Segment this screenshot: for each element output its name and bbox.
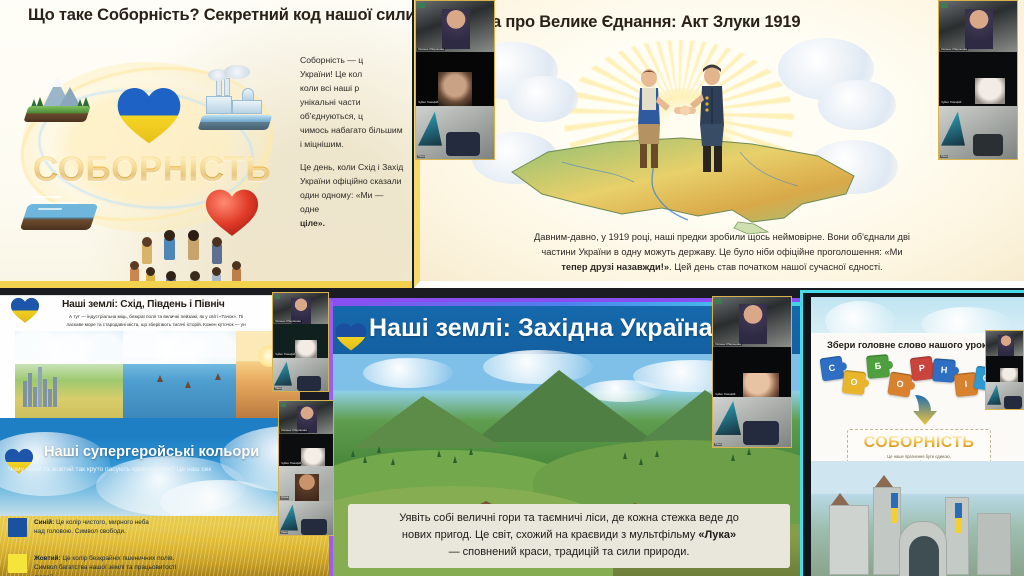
slide2-caption: Давним-давно, у 1919 році, наші предки з… bbox=[430, 230, 1014, 275]
participant-tile[interactable]: Оксана Обаринова bbox=[416, 1, 494, 52]
participant-tile[interactable] bbox=[986, 382, 1023, 409]
participant-name: Оксана Обаринова bbox=[714, 343, 742, 346]
puzzle-piece[interactable]: Б bbox=[866, 354, 890, 379]
slide-window-east-south-north[interactable]: Наші землі: Схід, Південь і Північ А тут… bbox=[0, 295, 300, 422]
participant-name: Чуйко Тимофій bbox=[274, 353, 296, 356]
slide4-subtitle: Чому синій та жовтий так круто пасують о… bbox=[8, 466, 211, 473]
puzzle-piece[interactable]: О bbox=[887, 371, 912, 397]
slide1-artwork: СОБОРНІСТЬ bbox=[8, 38, 288, 278]
participant-video-strip[interactable]: Оксана Обаринова Чуйко Тимофій Таня bbox=[712, 296, 792, 448]
slide1-keyword: СОБОРНІСТЬ bbox=[22, 150, 282, 190]
yellow-swatch bbox=[8, 554, 27, 573]
blue-yellow-heart-icon bbox=[335, 322, 367, 352]
blue-yellow-heart-icon bbox=[116, 86, 182, 146]
slide1-title: Що таке Соборність? Секретний код нашої … bbox=[28, 6, 412, 25]
slide-window-what-is-sobornist[interactable]: Що таке Соборність? Секретний код нашої … bbox=[0, 0, 412, 288]
slide5-title: Наші землі: Західна Україна bbox=[369, 314, 713, 343]
people-circle-icon bbox=[116, 234, 268, 288]
screen-share-grid: Що таке Соборність? Секретний код нашої … bbox=[0, 0, 1024, 576]
participant-name: Чуйко Тимофій bbox=[940, 101, 962, 104]
participant-name: Таня bbox=[280, 531, 288, 534]
participant-name: Таня bbox=[714, 443, 722, 446]
handshake-icon bbox=[670, 102, 700, 118]
participant-tile[interactable]: Таня bbox=[713, 397, 791, 447]
castle-photo bbox=[811, 461, 1024, 576]
cossack-figure bbox=[626, 66, 672, 170]
down-arrow-icon bbox=[911, 393, 937, 427]
participant-tile[interactable] bbox=[986, 356, 1023, 381]
participant-tile[interactable]: Чуйко Тимофій bbox=[279, 434, 333, 467]
participant-name: Оксана Обаринова bbox=[274, 320, 302, 323]
participant-name: Чуйко Тимофій bbox=[714, 393, 736, 396]
puzzle-piece[interactable]: С bbox=[820, 356, 845, 382]
puzzle-piece[interactable]: Н bbox=[932, 358, 956, 382]
factory-icon bbox=[198, 72, 274, 130]
participant-name: Чуйко Тимофій bbox=[280, 462, 302, 465]
participant-video-strip[interactable]: Оксана Обаринова Чуйко Тимофій Таня bbox=[272, 292, 329, 392]
participant-tile[interactable]: Таня bbox=[273, 358, 328, 391]
slide2-illustration bbox=[478, 36, 898, 236]
sea-photo bbox=[123, 331, 237, 419]
participant-video-strip[interactable] bbox=[985, 330, 1024, 410]
participant-tile[interactable]: Оксана Обаринова bbox=[713, 297, 791, 347]
participant-tile[interactable]: Оксана Обаринова bbox=[279, 401, 333, 434]
color-item-yellow: Жовтий: Це колір безкрайніх пшеничних по… bbox=[8, 554, 176, 576]
mic-muted-icon bbox=[941, 3, 948, 8]
slide3-title: Наші землі: Схід, Південь і Північ bbox=[62, 299, 225, 310]
red-heart-icon bbox=[204, 188, 260, 238]
participant-name: Ірина bbox=[280, 496, 289, 499]
participant-name: Оксана Обаринова bbox=[417, 48, 445, 51]
participant-name: Оксана Обаринова bbox=[940, 48, 968, 51]
mic-muted-icon bbox=[281, 403, 286, 407]
slide3-image-row bbox=[15, 331, 300, 419]
participant-video-strip[interactable]: Оксана Обаринова Чуйко Тимофій Таня bbox=[415, 0, 495, 160]
participant-tile[interactable]: Чуйко Тимофій bbox=[939, 52, 1017, 105]
participant-tile[interactable] bbox=[986, 331, 1023, 356]
industry-field-photo bbox=[15, 331, 123, 419]
color-item-blue: Синій: Це колір чистого, мирного неба на… bbox=[8, 518, 149, 537]
participant-video-strip[interactable]: Оксана Обаринова Чуйко Тимофій Ірина Тан… bbox=[278, 400, 334, 536]
slide1-body-text: Соборність — ц України! Це кол коли всі … bbox=[300, 54, 404, 231]
slide5-caption: Уявіть собі величні гори та таємничі ліс… bbox=[348, 504, 790, 568]
participant-tile[interactable]: Оксана Обаринова bbox=[939, 1, 1017, 52]
participant-tile[interactable]: Таня bbox=[416, 106, 494, 159]
participant-name: Оксана Обаринова bbox=[280, 429, 308, 432]
blue-swatch bbox=[8, 518, 27, 537]
mountain-icon bbox=[24, 70, 92, 122]
puzzle-piece[interactable]: О bbox=[842, 370, 866, 395]
slide4-title: Наші супергеройські кольори bbox=[44, 444, 259, 460]
participant-name: Таня bbox=[417, 155, 425, 158]
water-icon bbox=[22, 186, 98, 230]
participant-video-strip[interactable]: Оксана Обаринова Чуйко Тимофій Таня bbox=[938, 0, 1018, 160]
participant-tile[interactable]: Ірина bbox=[279, 466, 333, 500]
participant-name: Таня bbox=[940, 155, 948, 158]
participant-name: Чуйко Тимофій bbox=[417, 101, 439, 104]
participant-tile[interactable]: Чуйко Тимофій bbox=[273, 324, 328, 357]
slide3-subtitle: А тут — індустріальна міць, безкраї поля… bbox=[22, 313, 290, 329]
puzzle-piece[interactable]: Р bbox=[910, 356, 935, 382]
participant-tile[interactable]: Таня bbox=[939, 106, 1017, 159]
participant-tile[interactable]: Таня bbox=[279, 501, 333, 535]
mic-muted-icon bbox=[275, 295, 280, 299]
slide-window-act-of-unity[interactable]: Легенда про Велике Єднання: Акт Злуки 19… bbox=[414, 0, 1024, 288]
participant-tile[interactable]: Оксана Обаринова bbox=[273, 293, 328, 324]
participant-name: Таня bbox=[274, 387, 282, 390]
mic-muted-icon bbox=[715, 299, 722, 304]
slide6-keyword: СОБОРНІСТЬ bbox=[848, 434, 990, 452]
participant-tile[interactable]: Чуйко Тимофій bbox=[713, 347, 791, 397]
mic-muted-icon bbox=[418, 3, 425, 8]
participant-tile[interactable]: Чуйко Тимофій bbox=[416, 52, 494, 105]
slide6-title: Збери головне слово нашого уроку bbox=[827, 339, 992, 350]
